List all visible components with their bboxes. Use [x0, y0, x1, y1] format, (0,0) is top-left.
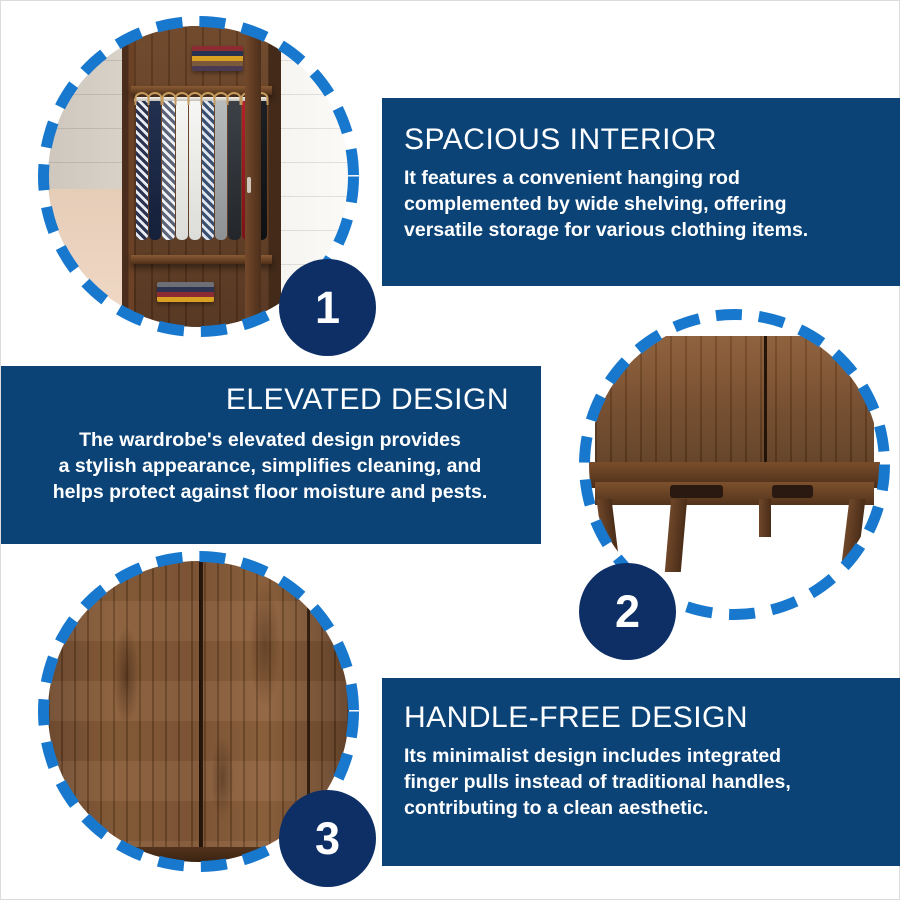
leg-center-rear	[759, 499, 771, 537]
step-number-2: 2	[615, 589, 640, 634]
feature-body-2-line-1: The wardrobe's elevated design provides	[13, 428, 527, 454]
feature-panel-3: HANDLE-FREE DESIGN Its minimalist design…	[382, 678, 900, 866]
center-door-gap	[199, 561, 203, 862]
feature-title-2: ELEVATED DESIGN	[13, 384, 527, 416]
wardrobe-feature-infographic: 1 SPACIOUS INTERIOR It features a conven…	[0, 0, 900, 900]
wardrobe-cabinet	[122, 26, 282, 327]
base-rail	[595, 482, 874, 505]
feature-body-3: Its minimalist design includes integrate…	[404, 744, 900, 822]
feature-body-3-line-2: finger pulls instead of traditional hand…	[404, 770, 900, 796]
feature-body-1: It features a convenient hanging rod com…	[404, 166, 900, 244]
step-number-1: 1	[315, 285, 340, 330]
step-badge-1: 1	[279, 259, 376, 356]
base-cutout-left	[670, 485, 722, 497]
base-cutout-right	[772, 485, 813, 497]
feature-body-1-line-2: complemented by wide shelving, offering	[404, 192, 900, 218]
door-pull	[247, 177, 251, 193]
step-badge-3: 3	[279, 790, 376, 887]
feature-title-3: HANDLE-FREE DESIGN	[404, 702, 900, 734]
cabinet-lower-body	[595, 336, 874, 470]
feature-body-3-line-1: Its minimalist design includes integrate…	[404, 744, 900, 770]
door-seam	[764, 336, 767, 470]
feature-body-1-line-1: It features a convenient hanging rod	[404, 166, 900, 192]
feature-body-3-line-3: contributing to a clean aesthetic.	[404, 796, 900, 822]
feature-body-2: The wardrobe's elevated design provides …	[13, 428, 527, 506]
feature-panel-2: ELEVATED DESIGN The wardrobe's elevated …	[1, 366, 541, 544]
folded-clothes-lower-shelf	[157, 282, 214, 302]
folded-clothes-top-shelf	[192, 46, 243, 71]
feature-body-2-line-2: a stylish appearance, simplifies cleanin…	[13, 454, 527, 480]
feature-title-1: SPACIOUS INTERIOR	[404, 124, 900, 156]
feature-panel-1: SPACIOUS INTERIOR It features a convenie…	[382, 98, 900, 286]
feature-body-2-line-3: helps protect against floor moisture and…	[13, 480, 527, 506]
step-number-3: 3	[315, 816, 340, 861]
step-badge-2: 2	[579, 563, 676, 660]
feature-body-1-line-3: versatile storage for various clothing i…	[404, 218, 900, 244]
